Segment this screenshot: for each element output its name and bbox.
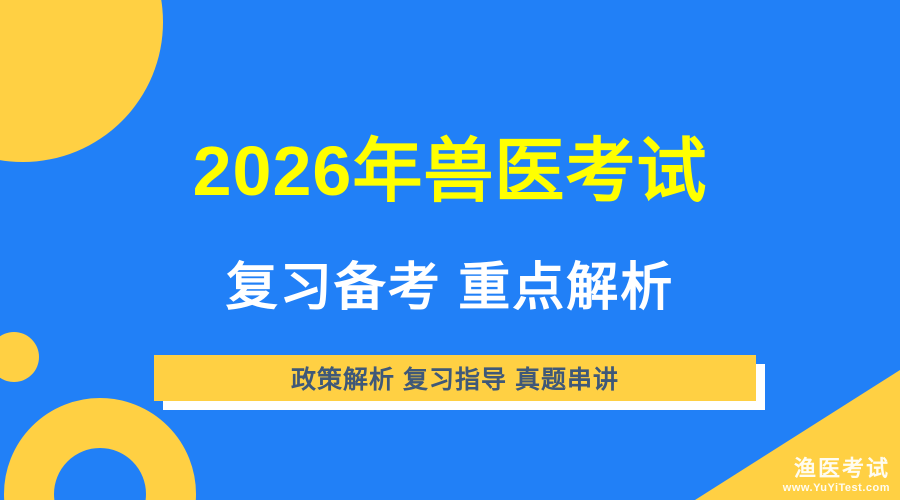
feature-banner: 政策解析 复习指导 真题串讲	[154, 355, 756, 401]
watermark: 渔医考试 www.YuYiTest.com	[783, 458, 890, 494]
main-title: 2026年兽医考试	[0, 136, 900, 206]
subtitle: 复习备考 重点解析	[0, 262, 900, 314]
poster-content: 2026年兽医考试 复习备考 重点解析 政策解析 复习指导 真题串讲	[0, 0, 900, 500]
promotional-poster: 2026年兽医考试 复习备考 重点解析 政策解析 复习指导 真题串讲 渔医考试 …	[0, 0, 900, 500]
feature-banner-label: 政策解析 复习指导 真题串讲	[291, 360, 619, 396]
feature-banner-bar: 政策解析 复习指导 真题串讲	[154, 355, 756, 401]
watermark-url: www.YuYiTest.com	[783, 483, 890, 494]
watermark-brand: 渔医考试	[783, 458, 890, 480]
